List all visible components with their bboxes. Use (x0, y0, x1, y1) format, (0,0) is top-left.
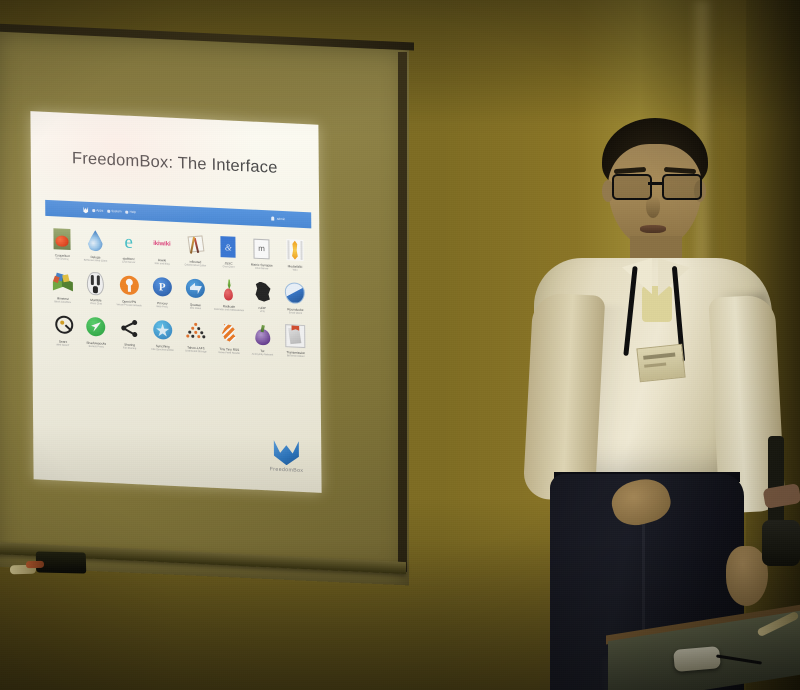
app-desc: Voice Chat (90, 302, 102, 306)
camera-head (762, 520, 800, 566)
presenter (518, 118, 784, 690)
nav-item-label: System (111, 209, 121, 213)
app-tile[interactable]: Radicale Calendar and Addressbook (212, 273, 246, 316)
openvpn-shield-icon (118, 272, 140, 298)
app-tile[interactable]: ikiwiki ikiwiki Wiki and Blog (145, 227, 179, 270)
help-icon (126, 210, 129, 213)
whiteboard-frame-right (398, 52, 407, 572)
app-tile[interactable]: MediaWiki Wiki (278, 233, 312, 276)
conference-badge (636, 344, 685, 383)
app-tile[interactable]: Coquelicot File Sharing (45, 222, 79, 265)
app-desc: Block Sandbox (54, 300, 71, 304)
app-tile[interactable]: Tahoe-LAFS Distributed Storage (179, 314, 213, 357)
glasses-lens-left (612, 174, 652, 200)
app-desc: Socks5 Proxy (89, 345, 104, 349)
nav-item-label: Apps (96, 208, 103, 212)
app-tile[interactable]: m Matrix Synapse Chat Server (245, 231, 279, 274)
app-desc: BitTorrent Client (287, 354, 305, 358)
app-desc: File Sharing (56, 257, 69, 261)
app-tile[interactable]: OpenVPN Virtual Private Network (112, 268, 146, 311)
app-tile[interactable]: ruDP VPN (245, 274, 279, 317)
pyramid-dots-icon (185, 318, 207, 344)
mumble-mouse-icon (85, 271, 107, 297)
photo-scene: FreedomBox: The Interface Apps System He… (0, 0, 800, 690)
glasses-icon (610, 174, 702, 196)
slide-content: FreedomBox: The Interface Apps System He… (30, 111, 321, 493)
glasses-lens-right (662, 174, 702, 200)
transmission-box-icon (285, 323, 307, 349)
presenter-arm-left (523, 292, 606, 501)
app-desc: IRC Client (190, 307, 201, 311)
app-desc: BitTorrent Web Client (84, 259, 108, 263)
app-desc: File Synchronization (152, 348, 175, 352)
letter-m-icon: m (251, 236, 273, 262)
app-grid: Coquelicot File Sharing Deluge BitTorren… (45, 222, 312, 362)
camera-stand-arm (768, 436, 784, 528)
roundcube-envelope-icon (284, 280, 306, 306)
app-desc: Chat Server (122, 260, 135, 264)
ttrss-orange-icon (218, 320, 240, 346)
blue-star-circle-icon (152, 317, 174, 343)
nav-item-help[interactable]: Help (126, 210, 136, 214)
presenter-nose (646, 196, 660, 218)
privoxy-p-icon: P (151, 274, 173, 300)
navbar-left-group: Apps System Help (83, 206, 136, 215)
presenter-mouth (640, 225, 666, 233)
nav-item-apps[interactable]: Apps (92, 208, 103, 213)
minetest-blocks-icon (51, 269, 73, 295)
onion-icon (251, 322, 273, 348)
poppy-photo-icon (51, 226, 73, 252)
app-tile[interactable]: & JSXC Chat Client (212, 230, 246, 273)
app-desc: Web Proxy (156, 305, 168, 309)
app-desc: Chat Server (255, 267, 268, 271)
radish-icon (218, 277, 240, 303)
app-tile[interactable]: Sharing File Sharing (113, 311, 147, 354)
app-tile[interactable]: Tor Anonymity Network (246, 317, 280, 360)
paper-plane-icon (85, 314, 107, 340)
app-tile[interactable]: P Privoxy Web Proxy (145, 270, 179, 313)
app-desc: Email Client (289, 311, 302, 315)
app-tile[interactable]: Roundcube Email Client (278, 276, 312, 319)
app-tile[interactable]: Transmission BitTorrent Client (279, 319, 313, 362)
nav-user-label: admin (277, 217, 285, 221)
ikiwiki-wordmark-icon: ikiwiki (151, 231, 173, 257)
app-tile[interactable]: Syncthing File Synchronization (146, 313, 180, 356)
gear-icon (107, 209, 110, 212)
badge-text-line (644, 362, 666, 367)
app-tile[interactable]: Tiny Tiny RSS News Feed Reader (212, 316, 246, 359)
brand-name: FreedomBox (270, 466, 304, 474)
butterfly-logo-icon (273, 440, 299, 466)
app-desc: File Sharing (123, 346, 136, 350)
app-desc: Distributed Storage (185, 349, 206, 353)
app-tile[interactable]: e ejabberd Chat Server (112, 225, 146, 268)
app-desc: Calendar and Addressbook (214, 308, 244, 312)
easel-brush-icon (184, 232, 206, 258)
app-desc: Wiki (293, 269, 298, 272)
nav-item-system[interactable]: System (107, 209, 121, 214)
app-tile[interactable]: Shadowsocks Socks5 Proxy (79, 309, 113, 352)
navbar-user-menu[interactable]: admin (271, 216, 285, 221)
app-tile[interactable]: Mumble Voice Chat (79, 266, 113, 309)
letter-e-icon: e (118, 229, 140, 255)
projected-slide: FreedomBox: The Interface Apps System He… (30, 111, 321, 493)
badge-text-line (643, 352, 675, 359)
grid-icon (92, 209, 95, 212)
page-title: FreedomBox: The Interface (31, 147, 319, 180)
presenter-undershirt (642, 286, 672, 322)
app-desc: Anonymity Network (252, 353, 274, 357)
app-desc: Collaborative Editor (184, 263, 206, 267)
water-drop-icon (84, 228, 106, 254)
magnifier-icon (52, 312, 74, 338)
share-nodes-icon (118, 315, 140, 341)
app-tile[interactable]: infinoted Collaborative Editor (178, 228, 212, 271)
quassel-wave-icon (184, 275, 206, 301)
app-tile[interactable]: Minetest Block Sandbox (46, 265, 80, 308)
app-tile[interactable]: Searx Web Search (46, 308, 80, 351)
app-desc: News Feed Reader (219, 351, 241, 355)
presenter-remote[interactable] (673, 646, 721, 672)
whiteboard-marker (26, 561, 44, 568)
app-desc: Virtual Private Network (116, 303, 141, 307)
app-desc: VPN (260, 310, 265, 313)
blue-ampersand-icon: & (217, 234, 239, 260)
app-tile[interactable]: Deluge BitTorrent Web Client (79, 223, 113, 266)
app-desc: Web Search (56, 343, 70, 347)
app-desc: Chat Client (222, 265, 234, 269)
user-icon (271, 216, 274, 220)
app-desc: Wiki and Blog (154, 262, 169, 266)
app-tile[interactable]: Quassel IRC Client (179, 271, 213, 314)
freedombox-logo-icon (83, 206, 88, 213)
nav-item-label: Help (130, 210, 136, 214)
dark-blob-icon (251, 279, 273, 305)
freedombox-footer-logo: FreedomBox (269, 439, 303, 474)
sunflower-icon (284, 237, 306, 263)
